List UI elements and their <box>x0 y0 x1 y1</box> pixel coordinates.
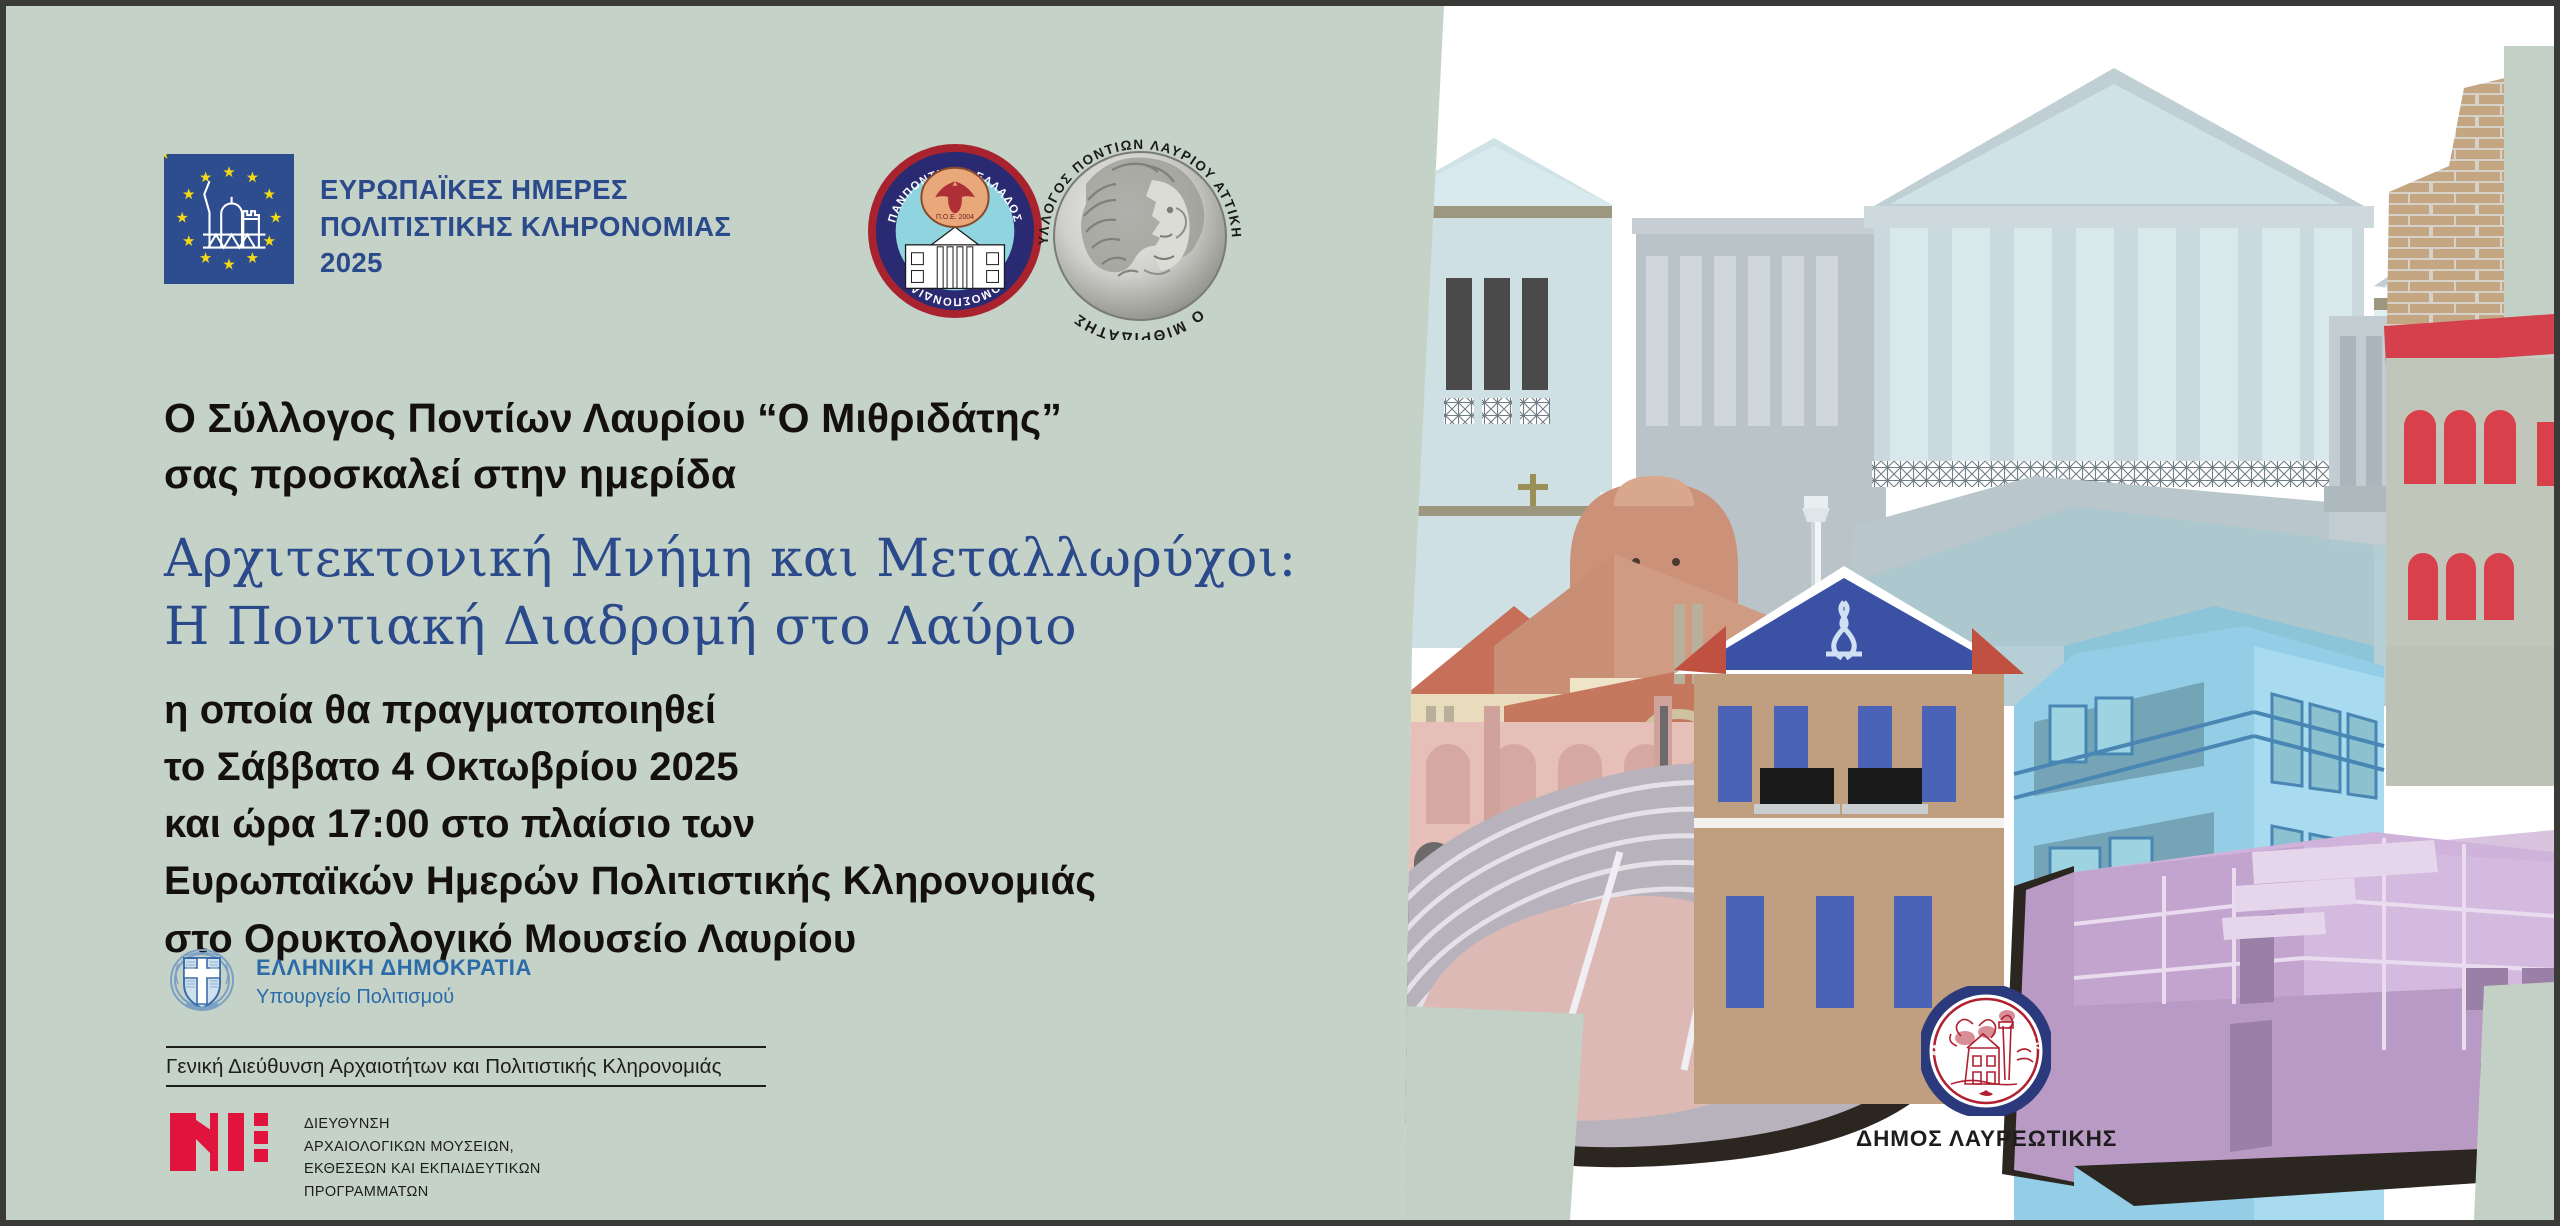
directorate-of-museums-block: ΔΙΕΥΘΥΝΣΗ ΑΡΧΑΙΟΛΟΓΙΚΩΝ ΜΟΥΣΕΙΩΝ, ΕΚΘΕΣΕ… <box>166 1109 541 1203</box>
ministry-logo-block: ΕΛΛΗΝΙΚΗ ΔΗΜΟΚΡΑΤΙΑ Υπουργείο Πολιτισμού <box>166 946 532 1018</box>
general-directorate-label: Γενική Διεύθυνση Αρχαιοτήτων και Πολιτισ… <box>166 1048 766 1085</box>
poster-canvas: ΕΥΡΩΠΑΪΚΕΣ ΗΜΕΡΕΣ ΠΟΛΙΤΙΣΤΙΚΗΣ ΚΛΗΡΟΝΟΜΙ… <box>0 0 2560 1226</box>
svg-text:Π.Ο.Ε. 2004: Π.Ο.Ε. 2004 <box>936 214 974 221</box>
dm-line-1: ΔΙΕΥΘΥΝΣΗ <box>304 1113 541 1136</box>
detail-line-1: η οποία θα πραγματοποιηθεί <box>164 682 1314 739</box>
dm-line-2: ΑΡΧΑΙΟΛΟΓΙΚΩΝ ΜΟΥΣΕΙΩΝ, <box>304 1136 541 1159</box>
event-title-line-2: Η Ποντιακή Διαδρομή στο Λαύριο <box>164 593 1314 662</box>
directorate-of-museums-label: ΔΙΕΥΘΥΝΣΗ ΑΡΧΑΙΟΛΟΓΙΚΩΝ ΜΟΥΣΕΙΩΝ, ΕΚΘΕΣΕ… <box>304 1109 541 1203</box>
divider-bottom <box>166 1085 766 1087</box>
invitation-intro: Ο Σύλλογος Ποντίων Λαυρίου “Ο Μιθριδάτης… <box>164 391 1314 503</box>
event-details: η οποία θα πραγματοποιηθεί το Σάββατο 4 … <box>164 682 1314 968</box>
intro-line-2: σας προσκαλεί στην ημερίδα <box>164 447 1314 503</box>
municipality-block: ΔΗΜΟΣ ΛΑΥΡΕΩΤΙΚΗΣ <box>1856 986 2116 1152</box>
invitation-text: Ο Σύλλογος Ποντίων Λαυρίου “Ο Μιθριδάτης… <box>164 391 1314 968</box>
content-column: ΕΥΡΩΠΑΪΚΕΣ ΗΜΕΡΕΣ ΠΟΛΙΤΙΣΤΙΚΗΣ ΚΛΗΡΟΝΟΜΙ… <box>6 6 1406 1220</box>
intro-line-1: Ο Σύλλογος Ποντίων Λαυρίου “Ο Μιθριδάτης… <box>164 391 1314 447</box>
dm-line-4: ΠΡΟΓΡΑΜΜΑΤΩΝ <box>304 1181 541 1204</box>
european-heritage-days-logo: ΕΥΡΩΠΑΪΚΕΣ ΗΜΕΡΕΣ ΠΟΛΙΤΙΣΤΙΚΗΣ ΚΛΗΡΟΝΟΜΙ… <box>164 154 731 284</box>
european-heritage-days-title: ΕΥΡΩΠΑΪΚΕΣ ΗΜΕΡΕΣ ΠΟΛΙΤΙΣΤΙΚΗΣ ΚΛΗΡΟΝΟΜΙ… <box>320 154 731 282</box>
ehd-line-1: ΕΥΡΩΠΑΪΚΕΣ ΗΜΕΡΕΣ <box>320 172 731 209</box>
hellenic-republic-crest <box>166 946 238 1018</box>
general-directorate-block: Γενική Διεύθυνση Αρχαιοτήτων και Πολιτισ… <box>166 1046 766 1087</box>
detail-line-2: το Σάββατο 4 Οκτωβρίου 2025 <box>164 739 1314 796</box>
panpontian-federation-seal: ΠΑΝΠΟΝΤΙΑΚΗ ΕΛΛΑΔΟΣ ΟΜΟΣΠΟΝΔΙΑ <box>866 142 1044 320</box>
ehd-year: 2025 <box>320 245 731 282</box>
event-title-line-1: Αρχιτεκτονική Μνήμη και Μεταλλωρύχοι: <box>164 525 1314 594</box>
ministry-line-1: ΕΛΛΗΝΙΚΗ ΔΗΜΟΚΡΑΤΙΑ <box>256 955 532 981</box>
event-title: Αρχιτεκτονική Μνήμη και Μεταλλωρύχοι: Η … <box>164 525 1314 662</box>
directorate-of-museums-monogram <box>166 1109 284 1181</box>
detail-line-3: και ώρα 17:00 στο πλαίσιο των <box>164 796 1314 853</box>
ehd-line-2: ΠΟΛΙΤΙΣΤΙΚΗΣ ΚΛΗΡΟΝΟΜΙΑΣ <box>320 209 731 246</box>
mithridatis-coin-seal: ΣΥΛΛΟΓΟΣ ΠΟΝΤΙΩΝ ΛΑΥΡΙΟΥ ΑΤΤΙΚΗΣ Ο ΜΙΘΡΙ… <box>1026 124 1248 340</box>
municipality-of-lavreotiki-seal: ΔΗΜΟΣ ΛΑΥΡΕΩΤΙΚΗΣ <box>1921 986 2051 1116</box>
municipality-label: ΔΗΜΟΣ ΛΑΥΡΕΩΤΙΚΗΣ <box>1856 1126 2116 1152</box>
european-heritage-days-flag <box>164 154 294 284</box>
ministry-line-2: Υπουργείο Πολιτισμού <box>256 986 532 1009</box>
dm-line-3: ΕΚΘΕΣΕΩΝ ΚΑΙ ΕΚΠΑΙΔΕΥΤΙΚΩΝ <box>304 1158 541 1181</box>
detail-line-4: Ευρωπαϊκών Ημερών Πολιτιστικής Κληρονομι… <box>164 853 1314 910</box>
